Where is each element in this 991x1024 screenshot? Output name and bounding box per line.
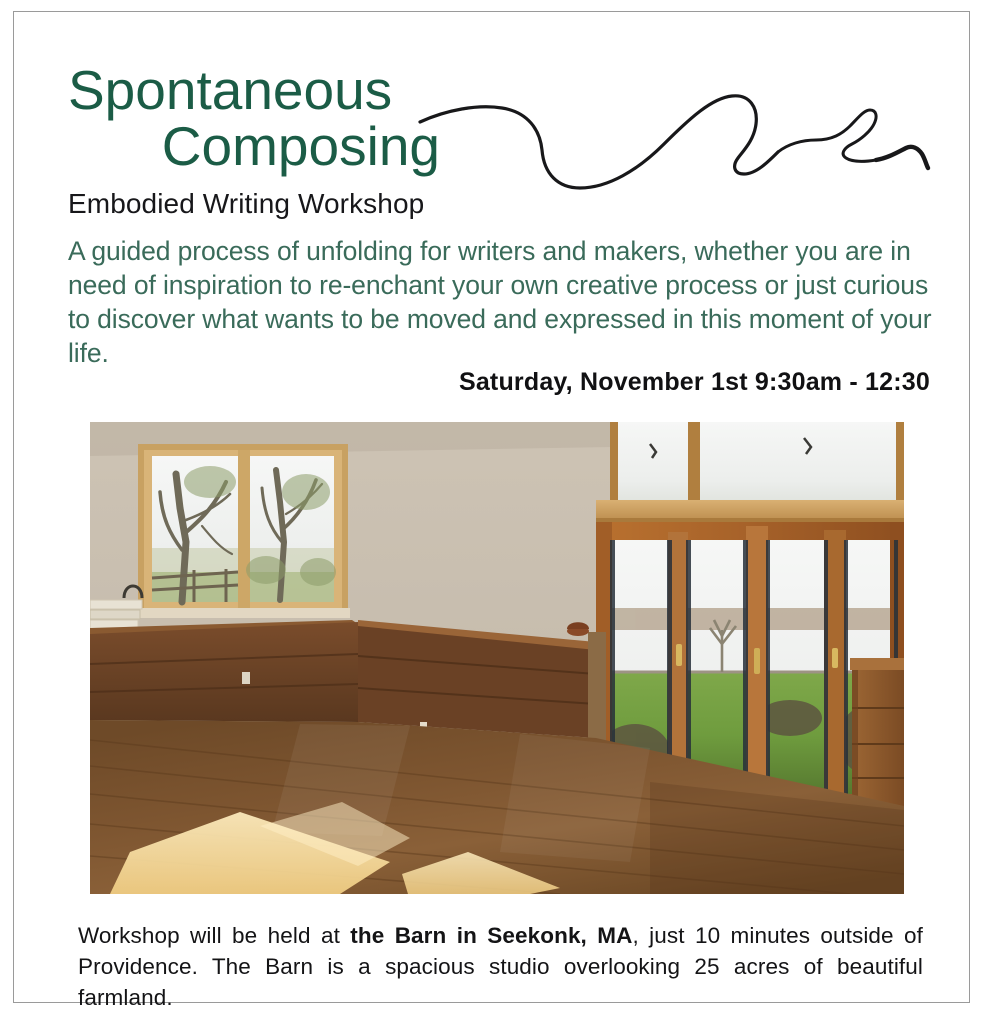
venue-caption: Workshop will be held at the Barn in See… — [78, 920, 923, 1013]
intro-paragraph: A guided process of unfolding for writer… — [68, 234, 936, 370]
page-title: Spontaneous Composing — [68, 62, 448, 174]
title-line-1: Spontaneous — [68, 62, 448, 118]
brush-squiggle-icon — [412, 82, 936, 192]
page-subtitle: Embodied Writing Workshop — [68, 188, 424, 220]
event-datetime: Saturday, November 1st 9:30am - 12:30 — [68, 368, 930, 397]
caption-venue: the Barn in Seekonk, MA — [350, 923, 632, 948]
venue-photo — [90, 422, 904, 894]
poster-page: Spontaneous Composing Embodied Writing W… — [0, 0, 991, 1024]
title-line-2: Composing — [68, 118, 448, 174]
caption-before: Workshop will be held at — [78, 923, 350, 948]
